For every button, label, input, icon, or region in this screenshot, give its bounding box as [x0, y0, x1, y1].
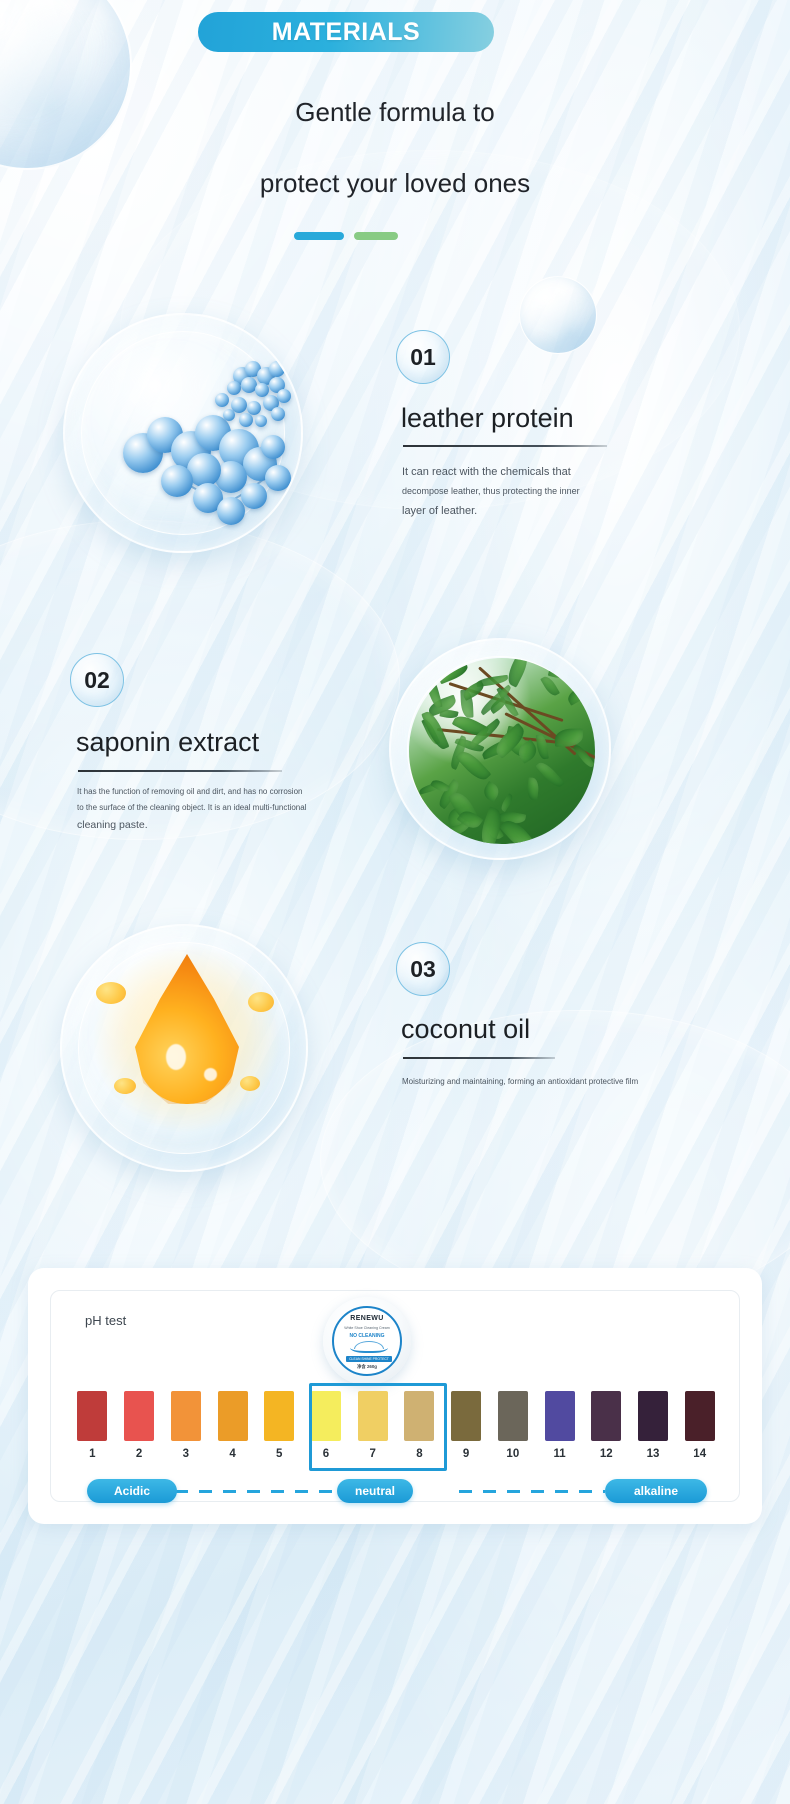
ph-swatch-number: 8	[416, 1448, 422, 1460]
divider-dot-green	[354, 232, 398, 240]
ph-strip-cell: 7	[349, 1391, 396, 1463]
ph-swatch	[77, 1391, 107, 1441]
ph-swatch-number: 6	[323, 1448, 329, 1460]
leaf	[437, 661, 470, 684]
ph-swatch	[591, 1391, 621, 1441]
ph-strip-cell: 3	[162, 1391, 209, 1463]
ph-swatch	[498, 1391, 528, 1441]
ph-swatch-number: 4	[229, 1448, 235, 1460]
ph-test-card: pH test RENEWU White Shoe Cleaning Cream…	[28, 1268, 762, 1524]
ph-swatch	[124, 1391, 154, 1441]
ph-strip-cell: 10	[489, 1391, 536, 1463]
ph-strip-cell: 9	[443, 1391, 490, 1463]
leaf	[499, 793, 515, 812]
molecule-illustration	[65, 315, 301, 551]
material-desc-02-line-2: to the surface of the cleaning object. I…	[77, 800, 327, 816]
ph-swatch-number: 2	[136, 1448, 142, 1460]
scale-dash-right	[459, 1490, 605, 1493]
ph-swatch	[358, 1391, 388, 1441]
jar-ring: RENEWU White Shoe Cleaning Cream NO CLEA…	[332, 1306, 402, 1376]
ph-swatch-number: 1	[89, 1448, 95, 1460]
material-desc-02-line-1: It has the function of removing oil and …	[77, 784, 327, 800]
jar-subtitle: White Shoe Cleaning Cream	[334, 1326, 400, 1330]
oil-gloss-1	[166, 1044, 186, 1070]
ph-strip-cell: 5	[256, 1391, 303, 1463]
ph-swatch	[685, 1391, 715, 1441]
molecule-atom	[241, 483, 267, 509]
ph-swatch	[404, 1391, 434, 1441]
ph-swatch-number: 3	[183, 1448, 189, 1460]
ph-swatch-number: 10	[506, 1448, 519, 1460]
ph-swatch-number: 5	[276, 1448, 282, 1460]
ph-swatch-number: 14	[693, 1448, 706, 1460]
ph-test-panel: pH test RENEWU White Shoe Cleaning Cream…	[50, 1290, 740, 1502]
ph-strip-cell: 14	[676, 1391, 723, 1463]
molecule-atom	[239, 413, 253, 427]
leaf	[461, 680, 487, 701]
leaf	[439, 708, 458, 719]
material-number-01: 01	[396, 330, 450, 384]
product-jar-lid: RENEWU White Shoe Cleaning Cream NO CLEA…	[323, 1297, 411, 1385]
jar-tagline: NO CLEANING	[334, 1333, 400, 1339]
ph-strip-cell: 4	[209, 1391, 256, 1463]
oil-splash-2	[248, 992, 274, 1012]
material-desc-01: It can react with the chemicals that dec…	[402, 462, 632, 522]
ph-test-label: pH test	[85, 1313, 126, 1328]
material-desc-03: Moisturizing and maintaining, forming an…	[402, 1074, 732, 1090]
ph-strip-cell: 13	[630, 1391, 677, 1463]
material-rule-01	[403, 445, 607, 447]
material-title-01: leather protein	[401, 403, 574, 434]
oil-gloss-2	[204, 1068, 217, 1081]
leaf	[565, 686, 587, 706]
divider-dots	[294, 232, 398, 240]
petri-dish-leaves	[389, 638, 611, 860]
material-desc-01-line-2: decompose leather, thus protecting the i…	[402, 483, 632, 501]
material-number-02: 02	[70, 653, 124, 707]
jar-brand-name: RENEWU	[334, 1315, 400, 1322]
molecule-atom	[161, 465, 193, 497]
jar-bar-text: CLEAN SHINE PROTECT	[346, 1356, 392, 1362]
ph-strip-cell: 8	[396, 1391, 443, 1463]
ph-swatch	[171, 1391, 201, 1441]
bubble-small-icon	[519, 276, 597, 354]
ph-scale: Acidic neutral alkaline	[87, 1479, 707, 1503]
molecule-atom	[227, 381, 241, 395]
material-rule-02	[78, 770, 282, 772]
ph-swatch-number: 7	[369, 1448, 375, 1460]
headline-line-1: Gentle formula to	[0, 97, 790, 128]
oil-splash-3	[114, 1078, 136, 1094]
molecule-atom	[261, 435, 285, 459]
material-desc-01-line-1: It can react with the chemicals that	[402, 462, 632, 483]
material-number-03: 03	[396, 942, 450, 996]
molecule-atom	[255, 415, 267, 427]
oil-splash-1	[96, 982, 126, 1004]
ph-swatch	[545, 1391, 575, 1441]
leaf	[548, 661, 570, 680]
petri-dish-molecule	[63, 313, 303, 553]
molecule-atom	[277, 389, 291, 403]
molecule-atom	[269, 361, 285, 377]
ph-strip-cell: 12	[583, 1391, 630, 1463]
ph-strip-cell: 2	[116, 1391, 163, 1463]
ph-scale-acidic: Acidic	[87, 1479, 177, 1503]
material-title-02: saponin extract	[76, 727, 259, 758]
petri-dish-oil	[60, 924, 308, 1172]
molecule-atom	[271, 407, 285, 421]
ph-swatch	[311, 1391, 341, 1441]
divider-dot-blue	[294, 232, 344, 240]
ph-strip-cell: 11	[536, 1391, 583, 1463]
ph-swatch-number: 13	[647, 1448, 660, 1460]
ph-scale-alkaline: alkaline	[605, 1479, 707, 1503]
ph-swatch	[218, 1391, 248, 1441]
oil-splash-4	[240, 1076, 260, 1091]
green-leaves-image	[409, 658, 595, 844]
material-title-03: coconut oil	[401, 1014, 530, 1045]
leaf	[555, 728, 583, 746]
ph-strip-row: 1234567891011121314	[69, 1391, 723, 1463]
jar-net-weight: 净含 260g	[334, 1364, 400, 1370]
molecule-atom	[217, 497, 245, 525]
ph-swatch-number: 11	[553, 1448, 565, 1460]
molecule-atom	[265, 465, 291, 491]
ph-swatch-number: 12	[600, 1448, 613, 1460]
material-rule-03	[403, 1057, 555, 1059]
leaf	[526, 778, 540, 801]
leaf	[536, 733, 549, 759]
ph-strip-cell: 1	[69, 1391, 116, 1463]
leaf	[535, 759, 564, 790]
ph-strip-cell: 6	[303, 1391, 350, 1463]
scale-dash-left	[175, 1490, 355, 1493]
ph-swatch	[638, 1391, 668, 1441]
molecule-atom	[215, 393, 229, 407]
material-desc-02-line-3: cleaning paste.	[77, 815, 327, 835]
ph-swatch-number: 9	[463, 1448, 469, 1460]
headline-line-2: protect your loved ones	[0, 168, 790, 199]
water-background	[0, 0, 790, 1804]
molecule-atom	[223, 409, 235, 421]
material-desc-02: It has the function of removing oil and …	[77, 784, 327, 836]
section-badge-materials: MATERIALS	[198, 12, 494, 52]
material-desc-03-line-1: Moisturizing and maintaining, forming an…	[402, 1074, 732, 1090]
ph-swatch	[451, 1391, 481, 1441]
ph-swatch	[264, 1391, 294, 1441]
leaf	[481, 780, 503, 802]
shoe-icon	[350, 1340, 388, 1353]
ph-scale-neutral: neutral	[337, 1479, 413, 1503]
material-desc-01-line-3: layer of leather.	[402, 501, 632, 522]
